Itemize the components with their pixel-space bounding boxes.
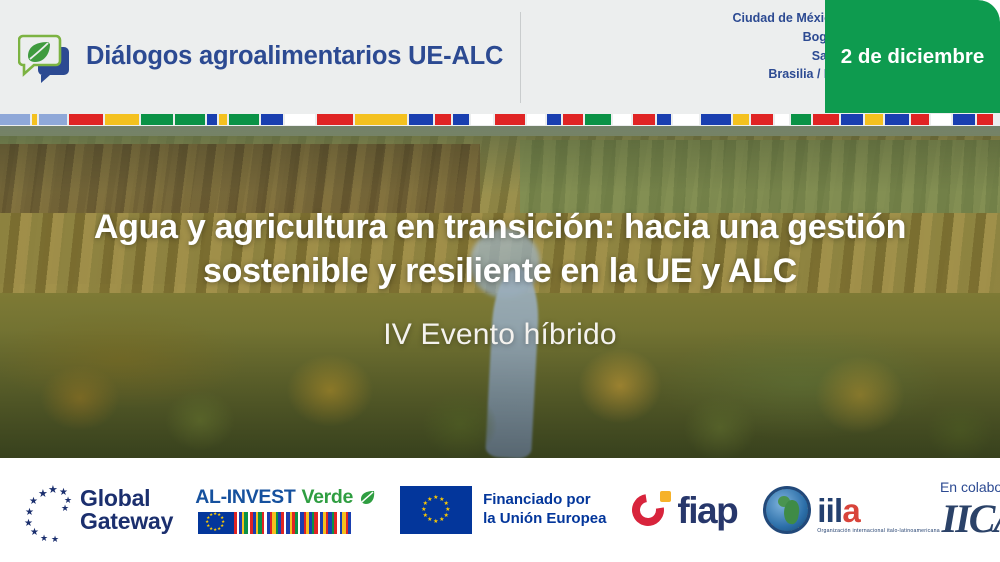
- eu-flag-icon: ★★★★★★★★★★★★: [198, 512, 234, 534]
- flag-segment: [39, 114, 67, 125]
- fiap-name: fiap: [677, 492, 737, 529]
- flag-segment: [527, 114, 545, 125]
- star-icon: ★: [30, 528, 39, 538]
- iila-name-prefix: iil: [817, 492, 842, 529]
- global-gateway-line1: Global: [80, 487, 173, 510]
- flag-segment: [355, 114, 407, 125]
- color-bar: [348, 512, 351, 534]
- star-icon: ★: [48, 485, 58, 495]
- flag-segment: [813, 114, 839, 125]
- event-banner: Diálogos agroalimentarios UE-ALC Ciudad …: [0, 0, 1000, 562]
- flag-segment: [261, 114, 283, 125]
- flag-segment: [953, 114, 975, 125]
- flag-segment: [841, 114, 863, 125]
- flag-segment: [69, 114, 103, 125]
- flag-segment: [563, 114, 583, 125]
- flag-segment: [317, 114, 353, 125]
- flag-segment: [733, 114, 749, 125]
- al-invest-color-bars: ★★★★★★★★★★★★: [198, 512, 373, 534]
- star-icon: ★: [25, 508, 34, 518]
- hero-title-line2: sostenible y resiliente en la UE y ALC: [0, 250, 1000, 294]
- flag-segment: [105, 114, 139, 125]
- flag-segment: [495, 114, 525, 125]
- flag-segment: [585, 114, 611, 125]
- banner-footer: ★★★★★★★★★★★ Global Gateway AL-INVEST Ver…: [0, 458, 1000, 562]
- logo-iila: iila Organización internacional italo-la…: [763, 486, 940, 534]
- hero-subtitle-wrap: IV Evento híbrido: [0, 318, 1000, 352]
- logo-fiap: fiap: [632, 490, 737, 530]
- logo-eu-funding: ★★★★★★★★★★★★ Financiado por la Unión Eur…: [400, 486, 606, 534]
- flag-segment: [791, 114, 811, 125]
- flag-segment: [32, 114, 37, 125]
- flag-segment: [751, 114, 773, 125]
- flag-segment: [285, 114, 315, 125]
- flag-segment: [701, 114, 731, 125]
- flag-segment: [977, 114, 993, 125]
- date-badge: 2 de diciembre: [825, 0, 1000, 113]
- star-icon: ★: [40, 533, 48, 543]
- flag-segment: [885, 114, 909, 125]
- hero-title: Agua y agricultura en transición: hacia …: [0, 206, 1000, 293]
- flag-segment: [657, 114, 671, 125]
- flag-segment: [673, 114, 699, 125]
- eu-stars-arc-icon: ★★★★★★★★★★★: [18, 481, 74, 539]
- flag-segment: [453, 114, 469, 125]
- logo-al-invest-verde: AL-INVEST Verde ★★★★★★★★★★★★: [195, 486, 376, 534]
- flag-segment: [207, 114, 217, 125]
- country-flags-strip-icon: [0, 113, 1000, 126]
- star-icon: ★: [29, 497, 38, 507]
- flag-segment: [435, 114, 451, 125]
- star-icon: ★: [51, 534, 59, 544]
- flag-segment: [229, 114, 259, 125]
- hero-subtitle: IV Evento híbrido: [0, 318, 1000, 352]
- star-icon: ★: [61, 503, 69, 513]
- brand-block: Diálogos agroalimentarios UE-ALC: [0, 0, 520, 113]
- global-gateway-line2: Gateway: [80, 510, 173, 533]
- al-invest-verde: Verde: [301, 486, 353, 509]
- page-title: Diálogos agroalimentarios UE-ALC: [86, 42, 503, 71]
- collaboration-label: En colaboración con: [940, 479, 1000, 495]
- banner-header: Diálogos agroalimentarios UE-ALC Ciudad …: [0, 0, 1000, 113]
- flag-segment: [409, 114, 433, 125]
- flag-segment: [931, 114, 951, 125]
- fiap-circle-mark-icon: [632, 490, 672, 530]
- leaf-icon: [359, 489, 376, 506]
- flag-segment: [0, 114, 30, 125]
- flag-segment: [633, 114, 655, 125]
- flag-segment: [175, 114, 205, 125]
- date-badge-label: 2 de diciembre: [841, 45, 985, 69]
- logo-global-gateway: ★★★★★★★★★★★ Global Gateway: [18, 481, 173, 539]
- flag-segment: [471, 114, 493, 125]
- al-invest-name: AL-INVEST: [195, 486, 295, 509]
- eu-flag-icon: ★★★★★★★★★★★★: [400, 486, 472, 534]
- flag-segment: [613, 114, 631, 125]
- flag-segment: [219, 114, 227, 125]
- eu-funding-line2: la Unión Europea: [483, 510, 606, 529]
- eu-funding-line1: Financiado por: [483, 491, 606, 510]
- flag-segment: [865, 114, 883, 125]
- iila-name-suffix: a: [842, 492, 860, 529]
- flag-segment: [911, 114, 929, 125]
- hero-title-line1: Agua y agricultura en transición: hacia …: [0, 206, 1000, 250]
- star-icon: ★: [38, 489, 48, 499]
- flag-segment: [141, 114, 173, 125]
- globe-flags-icon: [763, 486, 811, 534]
- iila-tagline: Organización internacional italo-latinoa…: [817, 529, 940, 534]
- speech-bubble-leaf-icon: [18, 31, 72, 83]
- logo-iica: En colaboración con IICA: [940, 479, 1000, 541]
- flag-segment: [547, 114, 561, 125]
- iica-name: IICA: [942, 499, 1000, 539]
- flag-segment: [775, 114, 789, 125]
